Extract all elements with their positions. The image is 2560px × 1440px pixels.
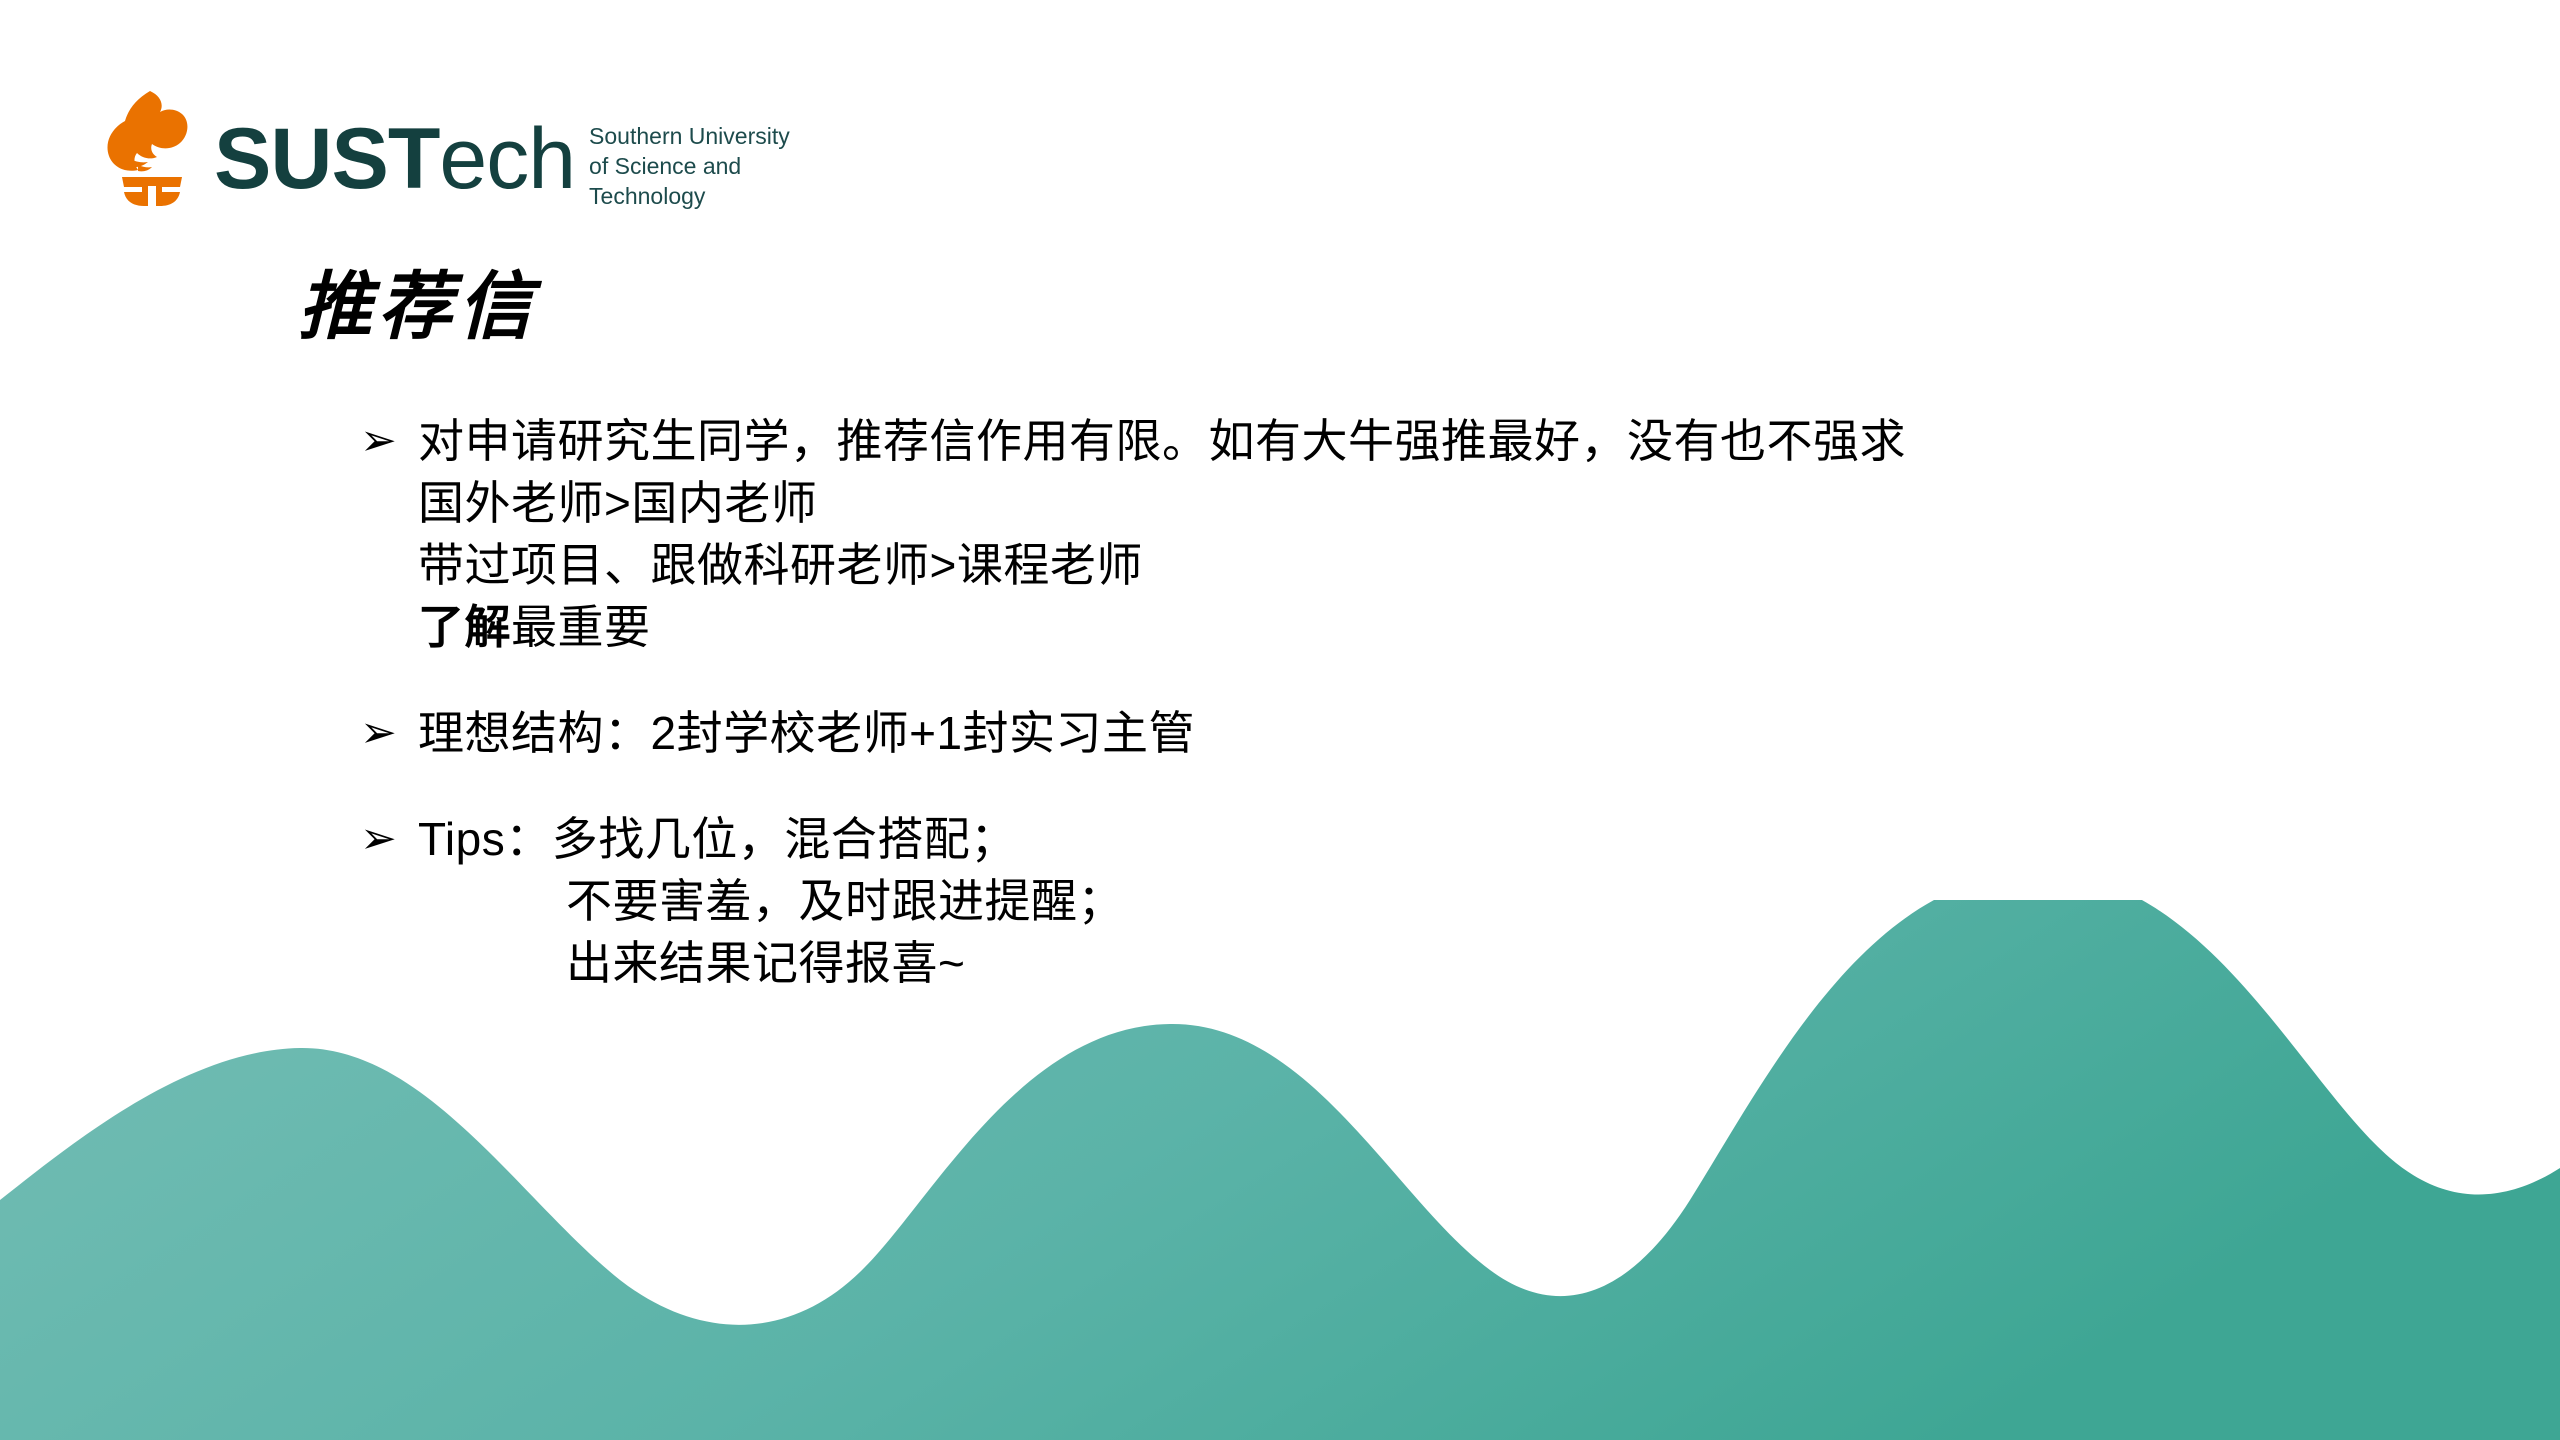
wordmark-strong: SUST: [214, 111, 439, 207]
bullet-text-group: 对申请研究生同学，推荐信作用有限。如有大牛强推最好，没有也不强求国外老师>国内老…: [418, 410, 2410, 658]
bullet-block: ➢对申请研究生同学，推荐信作用有限。如有大牛强推最好，没有也不强求国外老师>国内…: [360, 410, 2410, 658]
wordmark-light: ech: [439, 111, 575, 207]
bullet-block: ➢Tips：多找几位，混合搭配；不要害羞，及时跟进提醒；出来结果记得报喜~: [360, 808, 2410, 994]
bullet-line: 理想结构：2封学校老师+1封实习主管: [418, 702, 2410, 764]
slide-canvas: SUSTech Southern University of Science a…: [0, 0, 2560, 1440]
bullet-line: 了解最重要: [418, 596, 2410, 658]
bullet-block: ➢理想结构：2封学校老师+1封实习主管: [360, 702, 2410, 764]
tagline-line-1: Southern University: [589, 122, 790, 152]
slide-title: 推荐信: [298, 270, 538, 344]
bullet-line: Tips：多找几位，混合搭配；: [418, 808, 2410, 870]
bullet-text-group: Tips：多找几位，混合搭配；不要害羞，及时跟进提醒；出来结果记得报喜~: [418, 808, 2410, 994]
bullet-line: 出来结果记得报喜~: [418, 932, 2410, 994]
bullet-line-emphasis: 了解: [418, 601, 511, 653]
tagline-line-3: Technology: [589, 182, 790, 212]
sustech-logo-lockup: SUSTech Southern University of Science a…: [100, 88, 790, 208]
sustech-wordmark: SUSTech: [214, 116, 575, 202]
bullet-row: ➢Tips：多找几位，混合搭配；不要害羞，及时跟进提醒；出来结果记得报喜~: [360, 808, 2410, 994]
bullet-line-text: 出来结果记得报喜~: [566, 937, 965, 989]
bullet-line: 带过项目、跟做科研老师>课程老师: [418, 534, 2410, 596]
bullet-line-text: 不要害羞，及时跟进提醒；: [566, 875, 1124, 927]
bullet-row: ➢理想结构：2封学校老师+1封实习主管: [360, 702, 2410, 764]
bullet-line-text: 带过项目、跟做科研老师>课程老师: [418, 539, 1143, 591]
bullet-line-text: 对申请研究生同学，推荐信作用有限。如有大牛强推最好，没有也不强求: [418, 415, 1906, 467]
bullet-text-group: 理想结构：2封学校老师+1封实习主管: [418, 702, 2410, 764]
bullet-line-text: Tips：多找几位，混合搭配；: [418, 813, 1017, 865]
bullet-line-text: 理想结构：2封学校老师+1封实习主管: [418, 707, 1195, 759]
bullet-line: 对申请研究生同学，推荐信作用有限。如有大牛强推最好，没有也不强求: [418, 410, 2410, 472]
sustech-tagline: Southern University of Science and Techn…: [589, 122, 790, 212]
bullet-line: 国外老师>国内老师: [418, 472, 2410, 534]
sustech-torch-icon: [100, 88, 204, 206]
bullet-row: ➢对申请研究生同学，推荐信作用有限。如有大牛强推最好，没有也不强求国外老师>国内…: [360, 410, 2410, 658]
bullet-line: 不要害羞，及时跟进提醒；: [418, 870, 2410, 932]
tagline-line-2: of Science and: [589, 152, 790, 182]
bullet-arrow-icon: ➢: [360, 410, 418, 472]
bullet-arrow-icon: ➢: [360, 808, 418, 870]
bullet-line-text: 最重要: [511, 601, 651, 653]
slide-body: ➢对申请研究生同学，推荐信作用有限。如有大牛强推最好，没有也不强求国外老师>国内…: [360, 410, 2410, 994]
bullet-arrow-icon: ➢: [360, 702, 418, 764]
bullet-line-text: 国外老师>国内老师: [418, 477, 817, 529]
